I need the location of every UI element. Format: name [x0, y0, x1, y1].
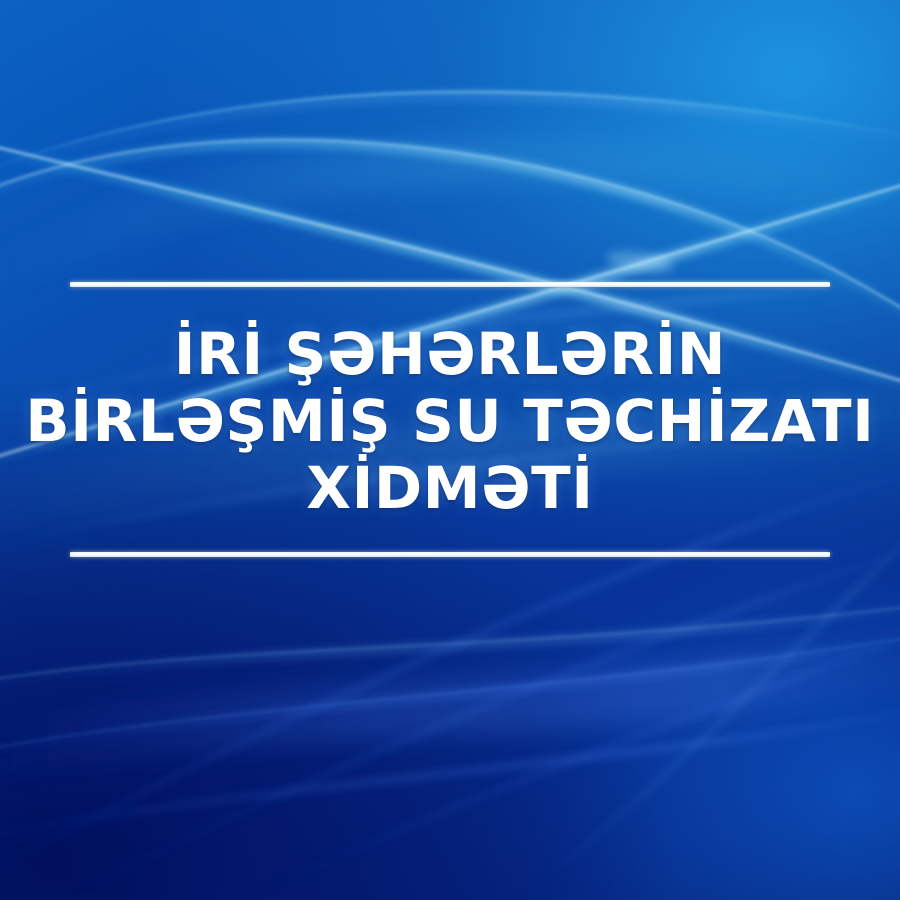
title-line-1: İRİ ŞƏHƏRLƏRİN — [0, 321, 900, 388]
bottom-divider-rule — [70, 552, 830, 557]
title-card-content: İRİ ŞƏHƏRLƏRİN BİRLƏŞMİŞ SU TƏCHİZATI Xİ… — [0, 282, 900, 557]
page-title: İRİ ŞƏHƏRLƏRİN BİRLƏŞMİŞ SU TƏCHİZATI Xİ… — [0, 287, 900, 552]
title-line-2: BİRLƏŞMİŞ SU TƏCHİZATI — [0, 388, 900, 455]
poster-canvas: İRİ ŞƏHƏRLƏRİN BİRLƏŞMİŞ SU TƏCHİZATI Xİ… — [0, 0, 900, 900]
title-line-3: XİDMƏTİ — [0, 455, 900, 522]
